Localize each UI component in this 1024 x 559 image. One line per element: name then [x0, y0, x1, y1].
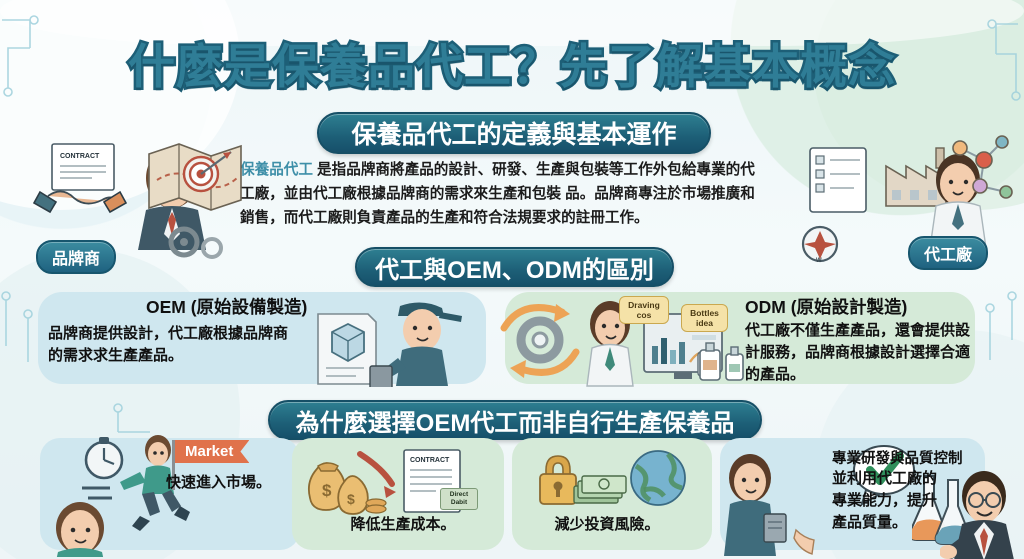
- benefit-title-quality: 專業研發與品質控制: [832, 447, 963, 468]
- speed-to-market-illustration: [22, 432, 192, 557]
- infographic-canvas: 什麼是保養品代工？先了解基本概念 保養品代工的定義與基本運作 保養品代工 是指品…: [0, 0, 1024, 559]
- benefit-text-quality: 並利用代工廠的專業能力，提升產品質量。: [832, 468, 950, 534]
- product-bottles-icon: [694, 338, 754, 386]
- sticky-note-bottles-idea: Bottles idea: [681, 304, 728, 332]
- svg-text:CONTRACT: CONTRACT: [60, 153, 100, 160]
- section-header-benefits: 為什麼選擇OEM代工而非自行生產保養品: [268, 400, 762, 440]
- lower-risk-illustration: [518, 448, 708, 514]
- svg-text:$: $: [347, 491, 355, 507]
- process-cycle-icon: [492, 296, 588, 384]
- oem-worker-illustration: [312, 292, 482, 387]
- label-oem-factory: 代工廠: [908, 236, 988, 270]
- odm-title: ODM (原始設計製造): [745, 294, 907, 319]
- section-header-comparison: 代工與OEM、ODM的區別: [355, 247, 674, 287]
- svg-text:$: $: [322, 481, 332, 500]
- definition-body: 是指品牌商將產品的設計、研發、生產與包裝等工作外包給專業的代工廠，並由代工廠根據…: [240, 162, 755, 226]
- oem-body: 品牌商提供設計，代工廠根據品牌商的需求求生產產品。: [48, 323, 298, 367]
- quality-control-illustration: [712, 440, 842, 558]
- section-header-definition: 保養品代工的定義與基本運作: [317, 112, 711, 154]
- compass-icon: W: [792, 222, 848, 264]
- page-title: 什麼是保養品代工？先了解基本概念: [128, 28, 896, 97]
- direct-debit-tag: Direct Dabit: [440, 488, 478, 510]
- benefit-text-risk: 減少投資風險。: [522, 514, 692, 536]
- businessman-illustration: [940, 470, 1024, 559]
- gear-compass-illustration-left: [162, 218, 232, 266]
- label-brand-owner: 品牌商: [36, 240, 116, 274]
- oem-title: OEM (原始設備製造): [146, 294, 307, 319]
- title-container: 什麼是保養品代工？先了解基本概念: [0, 28, 1024, 97]
- map-target-illustration: [145, 140, 255, 220]
- benefit-text-speed: 快速進入市場。: [166, 472, 276, 494]
- market-flag-banner: Market: [175, 440, 249, 463]
- odm-body: 代工廠不僅生產產品，還會提供設計服務，品牌商根據設計選擇合適的產品。: [745, 320, 980, 386]
- definition-paragraph: 保養品代工 是指品牌商將產品的設計、研發、生產與包裝等工作外包給專業的代工廠，並…: [240, 158, 768, 230]
- benefit-text-cost: 降低生產成本。: [318, 514, 488, 536]
- molecule-icon: [940, 128, 1020, 208]
- svg-text:CONTRACT: CONTRACT: [410, 457, 450, 464]
- svg-text:W: W: [816, 258, 822, 264]
- sticky-note-draving-cos: Draving cos: [619, 296, 669, 324]
